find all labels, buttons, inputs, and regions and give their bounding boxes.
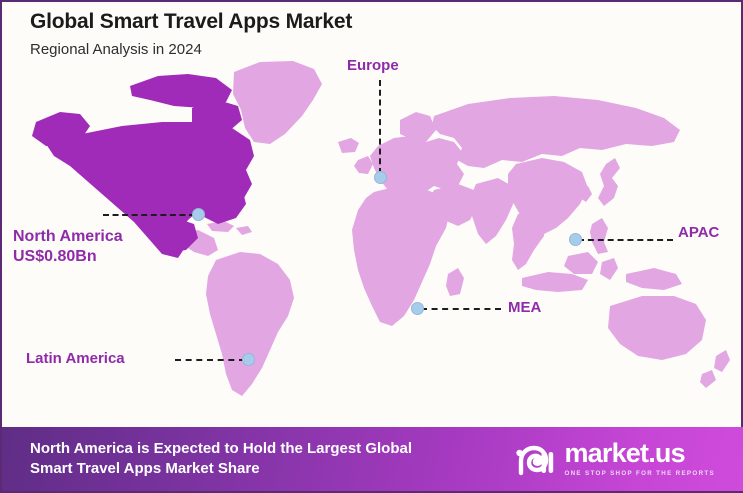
region-label-latin-america-name: Latin America <box>26 350 125 367</box>
region-label-europe: Europe <box>347 57 399 76</box>
region-india <box>470 178 514 244</box>
region-south-america <box>206 252 294 396</box>
region-value-north-america: US$0.80Bn <box>13 247 123 267</box>
region-africa <box>352 186 450 326</box>
leader-line-north-america <box>103 214 195 216</box>
banner-headline-line1: North America is Expected to Hold the La… <box>30 440 412 457</box>
map-marker-apac[interactable] <box>569 233 582 246</box>
map-base-regions <box>178 61 730 396</box>
market-us-logo-icon <box>513 439 555 479</box>
region-borneo <box>564 252 598 274</box>
header: Global Smart Travel Apps Market Regional… <box>30 10 352 58</box>
region-label-north-america-name: North America <box>13 228 123 245</box>
region-label-north-america: North America US$0.80Bn <box>13 227 123 267</box>
region-label-mea-name: MEA <box>508 299 541 316</box>
banner-headline: North America is Expected to Hold the La… <box>30 439 412 480</box>
region-indonesia <box>522 272 588 292</box>
region-southeast-asia <box>512 210 546 270</box>
region-label-mea: MEA <box>508 299 541 318</box>
region-label-latin-america: Latin America <box>26 350 125 369</box>
region-label-apac: APAC <box>678 224 719 243</box>
logo-text-block: market.us ONE STOP SHOP FOR THE REPORTS <box>564 440 715 477</box>
region-russia-north-asia <box>432 96 680 168</box>
map-marker-north-america[interactable] <box>192 208 205 221</box>
region-sulawesi <box>600 258 618 280</box>
map-marker-latin-america[interactable] <box>242 353 255 366</box>
region-madagascar <box>446 268 464 296</box>
leader-line-europe <box>379 80 381 174</box>
region-japan <box>598 158 620 206</box>
logo-tagline: ONE STOP SHOP FOR THE REPORTS <box>564 471 715 477</box>
map-marker-mea[interactable] <box>411 302 424 315</box>
leader-line-mea <box>421 308 501 310</box>
leader-line-latin-america <box>175 359 245 361</box>
region-new-guinea <box>626 268 682 290</box>
leader-line-apac <box>578 239 673 241</box>
region-hispaniola <box>236 226 252 235</box>
region-new-zealand-south <box>700 370 716 388</box>
infographic-card: Global Smart Travel Apps Market Regional… <box>0 0 743 493</box>
region-label-apac-name: APAC <box>678 224 719 241</box>
region-new-zealand <box>714 350 730 372</box>
banner-headline-line2: Smart Travel Apps Market Share <box>30 459 412 479</box>
bottom-banner: North America is Expected to Hold the La… <box>2 427 743 491</box>
region-label-europe-name: Europe <box>347 57 399 74</box>
region-british-isles <box>354 156 373 174</box>
market-us-logo[interactable]: market.us ONE STOP SHOP FOR THE REPORTS <box>513 439 731 479</box>
region-greenland <box>233 61 322 144</box>
region-iceland <box>338 138 359 153</box>
map-marker-europe[interactable] <box>374 171 387 184</box>
region-australia <box>608 296 706 360</box>
logo-wordmark: market.us <box>564 440 715 467</box>
region-philippines <box>590 218 608 254</box>
page-subtitle: Regional Analysis in 2024 <box>30 41 352 58</box>
page-title: Global Smart Travel Apps Market <box>30 10 352 34</box>
